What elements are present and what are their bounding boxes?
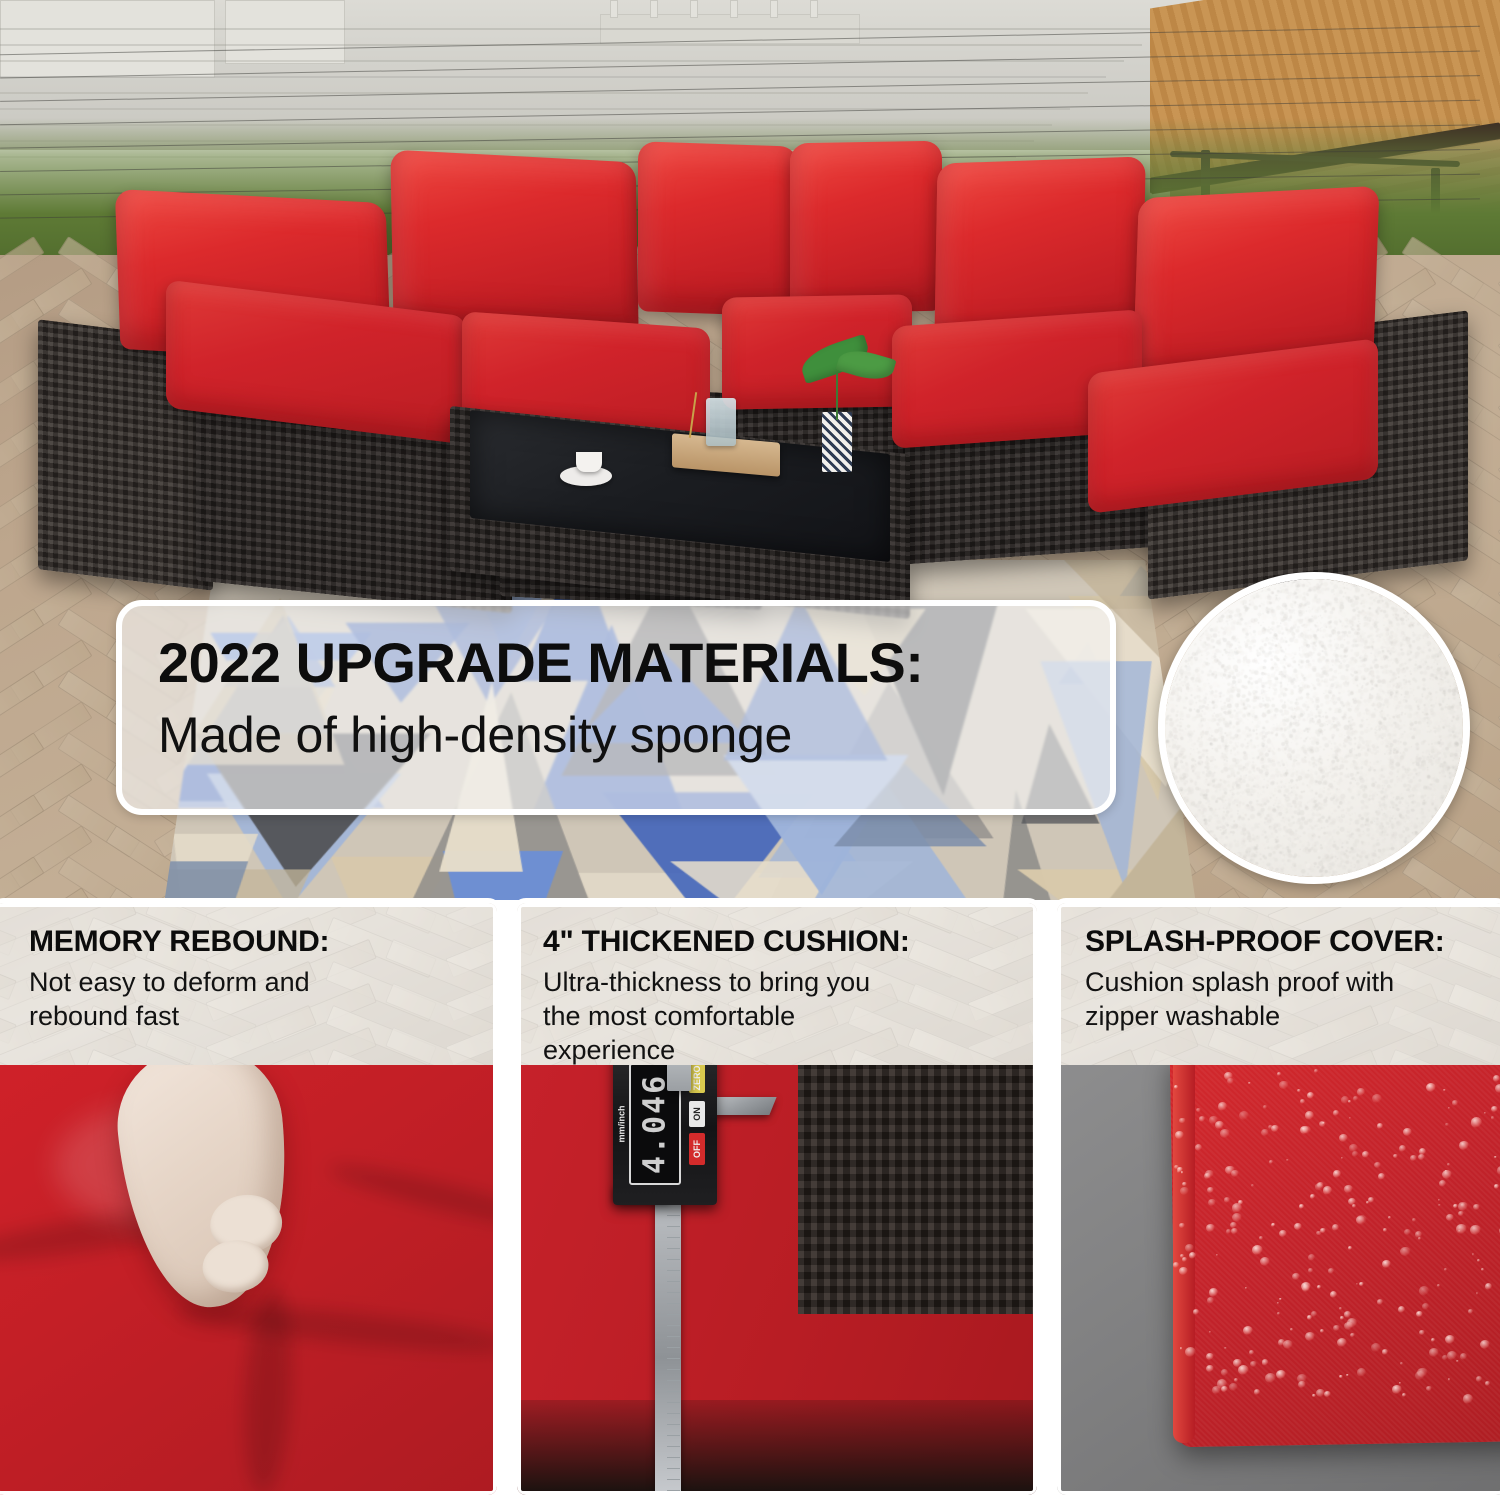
water-droplet	[1272, 1223, 1275, 1225]
panel-body: Not easy to deform and rebound fast	[29, 965, 359, 1033]
water-droplet	[1180, 1347, 1182, 1349]
water-droplet	[1383, 1228, 1387, 1231]
water-droplet	[1248, 1082, 1251, 1085]
water-droplet	[1277, 1302, 1279, 1304]
wall-baluster	[810, 0, 818, 18]
caliper-unit-label: mm/inch	[617, 1105, 627, 1142]
water-droplet	[1348, 1100, 1351, 1103]
water-droplet	[1350, 1333, 1355, 1337]
caliper-on-button[interactable]: ON	[689, 1101, 705, 1127]
water-droplet	[1340, 1316, 1343, 1319]
water-droplet	[1173, 1262, 1179, 1268]
caliper-scale-marks	[667, 1215, 680, 1495]
panel-photo-water-droplets	[1057, 1065, 1500, 1495]
water-droplet	[1447, 1351, 1457, 1360]
water-droplet	[1446, 1214, 1453, 1221]
water-droplet	[1230, 1222, 1237, 1228]
water-droplet	[1271, 1125, 1279, 1132]
water-droplet	[1179, 1223, 1185, 1228]
water-droplet	[1399, 1382, 1401, 1384]
water-droplet	[1308, 1268, 1313, 1273]
wall-panel	[0, 0, 215, 78]
water-droplet	[1402, 1393, 1407, 1397]
upgrade-banner: 2022 UPGRADE MATERIALS: Made of high-den…	[116, 600, 1116, 815]
water-droplet	[1315, 1183, 1323, 1190]
water-droplet	[1269, 1160, 1273, 1164]
back-cushion	[390, 150, 638, 333]
water-droplet	[1243, 1326, 1253, 1335]
panel-body: Cushion splash proof with zipper washabl…	[1085, 965, 1415, 1033]
water-droplet	[1308, 1254, 1316, 1261]
coffee-cup	[576, 452, 602, 472]
water-droplet	[1444, 1268, 1447, 1271]
water-droplet	[1491, 1116, 1494, 1119]
sponge-swatch-circle	[1158, 572, 1470, 884]
water-droplet	[1333, 1170, 1341, 1177]
rug-triangle	[161, 861, 248, 900]
water-droplet	[1196, 1108, 1201, 1112]
panel-text-block: MEMORY REBOUND: Not easy to deform and r…	[0, 903, 497, 1055]
wall-baluster	[770, 0, 778, 18]
water-droplet	[1349, 1144, 1358, 1153]
water-droplet	[1224, 1072, 1233, 1080]
water-droplet	[1311, 1311, 1317, 1316]
water-droplet	[1495, 1084, 1500, 1093]
water-droplet	[1445, 1123, 1448, 1126]
water-droplet	[1193, 1309, 1199, 1315]
water-droplet	[1199, 1116, 1205, 1121]
panel-text-block: 4" THICKENED CUSHION: Ultra-thickness to…	[517, 903, 1037, 1089]
water-droplet	[1339, 1134, 1348, 1142]
water-droplet	[1277, 1312, 1280, 1315]
panel-title: MEMORY REBOUND:	[29, 925, 473, 959]
water-droplet	[1359, 1282, 1363, 1286]
panel-text-block: SPLASH-PROOF COVER: Cushion splash proof…	[1057, 903, 1500, 1055]
water-droplet	[1346, 1374, 1349, 1376]
panel-memory-rebound: MEMORY REBOUND: Not easy to deform and r…	[0, 898, 502, 1500]
banner-subtitle: Made of high-density sponge	[158, 706, 792, 764]
water-droplet	[1231, 1228, 1237, 1234]
water-droplet	[1305, 1332, 1315, 1341]
water-droplet	[1400, 1247, 1410, 1257]
water-droplet	[1207, 1297, 1214, 1304]
wicker-backdrop	[798, 1065, 1037, 1314]
water-droplet	[1252, 1245, 1263, 1255]
water-droplet	[1259, 1236, 1263, 1240]
water-droplet	[1204, 1173, 1210, 1179]
water-droplet	[1452, 1100, 1458, 1106]
water-droplet	[1344, 1311, 1351, 1317]
water-droplet	[1279, 1081, 1288, 1090]
water-droplet	[1297, 1089, 1300, 1092]
water-droplet	[1460, 1353, 1467, 1359]
water-droplet	[1422, 1303, 1430, 1310]
water-droplet	[1458, 1202, 1467, 1210]
caliper-on-label: ON	[692, 1107, 702, 1121]
water-droplet	[1182, 1257, 1187, 1261]
water-droplet	[1382, 1349, 1388, 1354]
water-droplet	[1458, 1230, 1460, 1232]
water-droplet	[1415, 1231, 1423, 1238]
wall-baluster	[650, 0, 658, 18]
panel-photo-hand-press	[0, 1065, 497, 1495]
water-droplet	[1279, 1298, 1282, 1300]
water-droplet	[1324, 1391, 1331, 1397]
water-droplet	[1182, 1182, 1187, 1186]
water-droplet	[1416, 1311, 1423, 1317]
water-droplet	[1290, 1328, 1293, 1331]
wall-baluster	[690, 0, 698, 18]
water-droplet	[1339, 1375, 1343, 1378]
water-droplet	[1344, 1185, 1353, 1193]
water-droplet	[1429, 1348, 1439, 1357]
water-droplet	[1419, 1330, 1424, 1335]
water-droplet	[1476, 1376, 1482, 1382]
water-droplet	[1249, 1350, 1254, 1355]
water-droplet	[1307, 1092, 1314, 1099]
water-droplet	[1348, 1246, 1352, 1250]
back-cushion	[790, 141, 942, 314]
water-droplet	[1175, 1131, 1184, 1139]
water-droplet	[1481, 1268, 1484, 1271]
water-droplet	[1415, 1371, 1425, 1381]
water-droplet	[1330, 1291, 1337, 1298]
water-droplet	[1493, 1075, 1500, 1082]
siding-line	[0, 44, 1142, 46]
water-droplet	[1470, 1225, 1480, 1235]
water-droplet	[1459, 1141, 1468, 1150]
water-droplet	[1220, 1129, 1229, 1138]
water-droplet	[1438, 1204, 1440, 1206]
water-droplet	[1229, 1383, 1238, 1391]
glass-candle-holder	[706, 398, 736, 446]
water-droplet	[1398, 1306, 1405, 1313]
water-droplet	[1179, 1118, 1185, 1124]
water-droplet	[1473, 1204, 1480, 1210]
product-infographic: 2022 UPGRADE MATERIALS: Made of high-den…	[0, 0, 1500, 1500]
panel-splash-proof-cover: SPLASH-PROOF COVER: Cushion splash proof…	[1052, 898, 1500, 1500]
siding-line	[0, 28, 1160, 30]
water-droplet	[1208, 1199, 1216, 1206]
panel-title: SPLASH-PROOF COVER:	[1085, 925, 1481, 959]
water-droplet	[1317, 1285, 1321, 1289]
wall-panel	[225, 0, 345, 64]
back-cushion	[638, 141, 798, 317]
water-droplet	[1399, 1145, 1407, 1152]
water-droplet	[1477, 1259, 1480, 1262]
caliper-zero-button[interactable]: ZERO	[689, 1065, 705, 1093]
shadow-floor	[517, 1400, 1037, 1495]
caliper-body: 4.046 mm/inch ZERO ON OFF	[613, 1065, 717, 1205]
water-droplet	[1185, 1347, 1196, 1357]
water-droplet	[1195, 1144, 1202, 1151]
water-droplet	[1463, 1394, 1473, 1403]
water-droplet	[1231, 1170, 1239, 1177]
water-droplet	[1484, 1112, 1486, 1114]
water-droplet	[1298, 1381, 1306, 1388]
water-droplet	[1180, 1187, 1189, 1195]
water-droplet	[1328, 1268, 1334, 1274]
water-droplet	[1392, 1385, 1401, 1394]
water-droplet	[1277, 1072, 1281, 1076]
wall-baluster	[610, 0, 618, 18]
water-droplet	[1224, 1197, 1230, 1203]
caliper-off-label: OFF	[692, 1140, 702, 1158]
water-droplet	[1232, 1213, 1242, 1222]
siding-line	[0, 76, 1106, 78]
caliper-off-button[interactable]: OFF	[689, 1133, 705, 1165]
water-droplet	[1299, 1204, 1304, 1209]
water-droplet	[1251, 1184, 1254, 1187]
wall-baluster	[730, 0, 738, 18]
water-droplet	[1393, 1154, 1398, 1159]
water-droplet	[1305, 1111, 1315, 1120]
water-droplet	[1206, 1353, 1214, 1360]
plant-stem	[836, 372, 838, 420]
water-droplet	[1419, 1286, 1429, 1295]
water-droplet	[1341, 1157, 1343, 1159]
hero-scene: 2022 UPGRADE MATERIALS: Made of high-den…	[0, 0, 1500, 900]
water-droplet	[1265, 1373, 1276, 1383]
water-droplet	[1366, 1201, 1369, 1204]
water-droplet	[1442, 1355, 1448, 1360]
water-droplet	[1286, 1159, 1288, 1161]
water-droplet	[1332, 1224, 1339, 1231]
water-droplet	[1388, 1216, 1391, 1219]
patterned-vase	[822, 412, 852, 472]
water-droplet	[1456, 1224, 1467, 1234]
water-droplet	[1300, 1099, 1305, 1104]
water-droplet	[1456, 1360, 1459, 1363]
water-droplet	[1279, 1230, 1287, 1237]
water-droplet	[1333, 1325, 1340, 1331]
water-droplet	[1494, 1184, 1499, 1189]
water-droplet	[1207, 1187, 1214, 1193]
water-droplet	[1221, 1369, 1228, 1375]
caliper-thumb-screw[interactable]	[667, 1065, 691, 1091]
rug-triangle	[1067, 809, 1199, 900]
water-droplet	[1471, 1117, 1482, 1127]
water-droplet	[1218, 1102, 1227, 1111]
sponge-grain-texture	[1165, 579, 1470, 884]
water-droplet	[1323, 1186, 1333, 1195]
water-droplet	[1404, 1229, 1411, 1235]
water-droplet	[1234, 1378, 1238, 1382]
water-droplet	[1357, 1368, 1366, 1376]
water-droplet	[1362, 1151, 1370, 1158]
water-droplet	[1403, 1128, 1412, 1136]
water-droplet	[1177, 1167, 1182, 1172]
banner-title: 2022 UPGRADE MATERIALS:	[158, 630, 923, 695]
caliper-zero-label: ZERO	[692, 1065, 702, 1090]
panel-thickened-cushion: 4" THICKENED CUSHION: Ultra-thickness to…	[512, 898, 1042, 1500]
water-droplet	[1357, 1088, 1365, 1095]
panel-photo-caliper: 4.046 mm/inch ZERO ON OFF	[517, 1065, 1037, 1495]
panel-body: Ultra-thickness to bring you the most co…	[543, 965, 873, 1067]
water-droplet	[1410, 1155, 1417, 1161]
water-droplet	[1215, 1121, 1224, 1129]
feature-panels: MEMORY REBOUND: Not easy to deform and r…	[0, 898, 1500, 1500]
water-droplet	[1377, 1123, 1383, 1128]
water-droplet	[1180, 1254, 1184, 1258]
panel-title: 4" THICKENED CUSHION:	[543, 925, 1013, 959]
water-droplet	[1476, 1292, 1479, 1294]
water-droplet	[1221, 1386, 1228, 1392]
water-droplet	[1352, 1204, 1356, 1208]
